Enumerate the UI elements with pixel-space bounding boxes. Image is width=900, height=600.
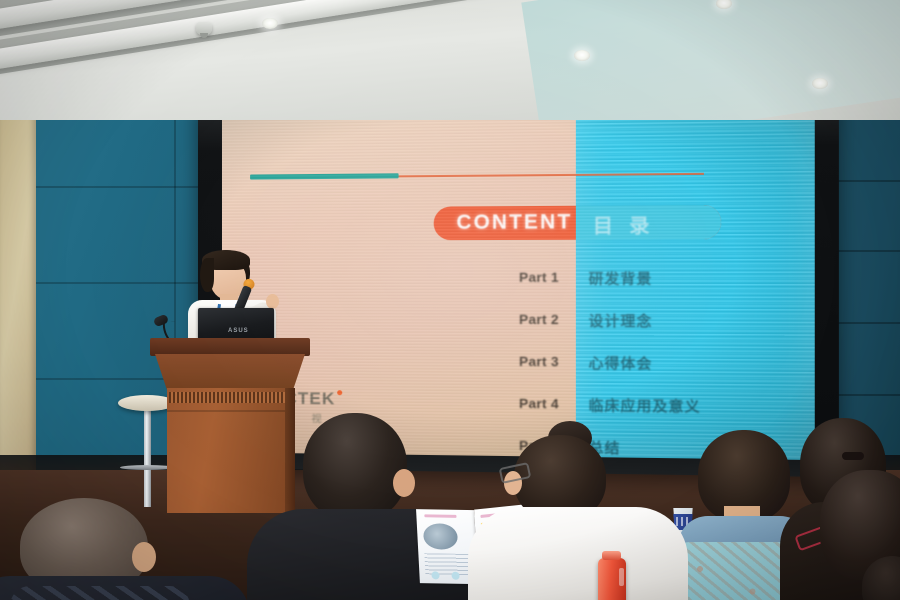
conference-photo: CONTENT 目 录 Part 1 研发背景 Part 2 设计理念 Part… (0, 0, 900, 600)
podium-vent-detail (169, 392, 291, 403)
podium-seam (167, 410, 293, 412)
podium-top-surface (150, 338, 310, 356)
laptop-lid: ASUS (198, 308, 274, 342)
hair-tie (842, 452, 864, 460)
part-number: Part 1 (519, 270, 559, 285)
presenter-hair-side (200, 258, 214, 292)
list-item: Part 2 设计理念 (519, 306, 808, 349)
smoke-detector (196, 22, 212, 35)
laptop-brand-label: ASUS (228, 328, 249, 334)
brochure-photo (423, 523, 458, 550)
presenter-hand (266, 294, 279, 309)
water-bottle (598, 558, 626, 600)
part-title: 心得体会 (589, 353, 653, 374)
list-item: Part 1 研发背景 (519, 263, 808, 306)
ear (132, 542, 156, 572)
patterned-shirt (0, 576, 250, 600)
recessed-downlight (812, 78, 828, 89)
screen-surface: CONTENT 目 录 Part 1 研发背景 Part 2 设计理念 Part… (222, 108, 815, 460)
part-title: 设计理念 (589, 311, 653, 332)
audience-member-reading (480, 425, 680, 600)
brochure-dot-icon (431, 571, 439, 579)
white-shirt (468, 507, 688, 600)
recessed-downlight (574, 50, 590, 61)
stool-pole (144, 407, 151, 507)
part-title: 临床应用及意义 (589, 395, 701, 417)
bottle-cap (602, 551, 621, 560)
part-number: Part 4 (519, 396, 559, 412)
part-title: 研发背景 (589, 268, 653, 289)
part-number: Part 3 (519, 354, 559, 370)
wood-column (0, 96, 36, 516)
brochure-dot-icon (451, 572, 459, 580)
audience-member-front-left (0, 498, 220, 600)
content-label-en: CONTENT (456, 211, 572, 235)
part-number: Part 2 (519, 312, 559, 328)
brochure-header-bar (424, 514, 456, 518)
bottle-clip (619, 568, 624, 586)
content-label-cn: 目 录 (593, 210, 655, 238)
ear (393, 469, 415, 497)
head (303, 413, 407, 521)
ceiling (0, 0, 900, 120)
recessed-downlight (262, 18, 278, 29)
content-title-pill: CONTENT 目 录 (434, 205, 722, 240)
podium-slope (155, 354, 305, 390)
list-item: Part 3 心得体会 (519, 348, 808, 392)
